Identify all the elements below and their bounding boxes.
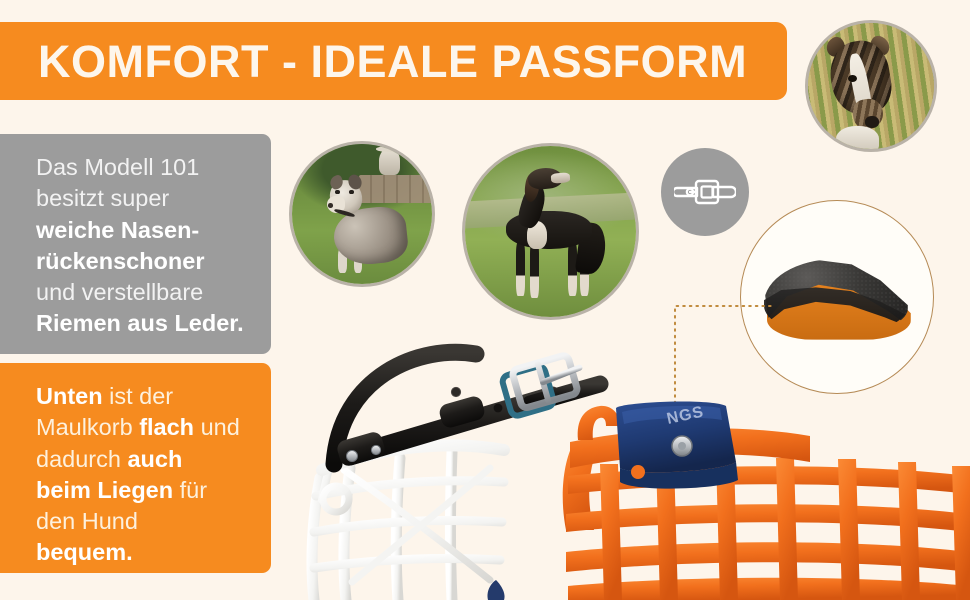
infographic-canvas: KOMFORT - IDEALE PASSFORM Das Modell 101… (0, 0, 970, 600)
gray-line-6: Riemen aus Leder. (36, 308, 251, 339)
orange-text-6: bequem. (36, 539, 133, 565)
gray-text-3: weiche Nasen- (36, 217, 199, 243)
gray-line-1: Das Modell 101 (36, 152, 251, 183)
orange-muzzle-product: NGS (560, 380, 970, 600)
gray-text-4: rückenschoner (36, 248, 204, 274)
flat-bottom-description-panel: Unten ist der Maulkorb flach und dadurch… (0, 363, 271, 573)
orange-text-4b: für (173, 477, 207, 503)
dog-photo-brindle-whippet (808, 23, 934, 149)
orange-line-6: bequem. (36, 537, 251, 568)
orange-text-2c: und (194, 414, 240, 440)
blue-nose-pad: NGS (616, 402, 738, 489)
orange-text-2b: flach (139, 414, 194, 440)
header-bar: KOMFORT - IDEALE PASSFORM (0, 22, 787, 100)
orange-text-5: den Hund (36, 508, 138, 534)
orange-text-2a: Maulkorb (36, 414, 139, 440)
orange-line-5: den Hund (36, 506, 251, 537)
page-title: KOMFORT - IDEALE PASSFORM (38, 39, 747, 84)
orange-text-3b: auch (127, 446, 182, 472)
gray-text-2: besitzt super (36, 185, 169, 211)
gray-line-2: besitzt super (36, 183, 251, 214)
gray-line-5: und verstellbare (36, 277, 251, 308)
nose-pad-illustration (764, 259, 914, 343)
orange-line-1: Unten ist der (36, 381, 251, 412)
comfort-description-panel: Das Modell 101 besitzt super weiche Nase… (0, 134, 271, 354)
buckle-strap-icon (674, 174, 736, 210)
orange-line-4: beim Liegen für (36, 475, 251, 506)
dog-photo-whippet-puppy (292, 144, 432, 284)
gray-text-6: Riemen aus Leder. (36, 310, 244, 336)
orange-text-3a: dadurch (36, 446, 127, 472)
orange-text-4a: beim Liegen (36, 477, 173, 503)
gray-text-1: Das Modell 101 (36, 154, 199, 180)
dog-photo-saluki (465, 146, 636, 317)
orange-text-1a: Unten (36, 383, 103, 409)
orange-line-3: dadurch auch (36, 444, 251, 475)
orange-line-2: Maulkorb flach und (36, 412, 251, 443)
orange-text-1b: ist der (103, 383, 174, 409)
gray-text-5: und verstellbare (36, 279, 203, 305)
gray-line-3: weiche Nasen- (36, 215, 251, 246)
buckle-icon-circle (661, 148, 749, 236)
gray-line-4: rückenschoner (36, 246, 251, 277)
